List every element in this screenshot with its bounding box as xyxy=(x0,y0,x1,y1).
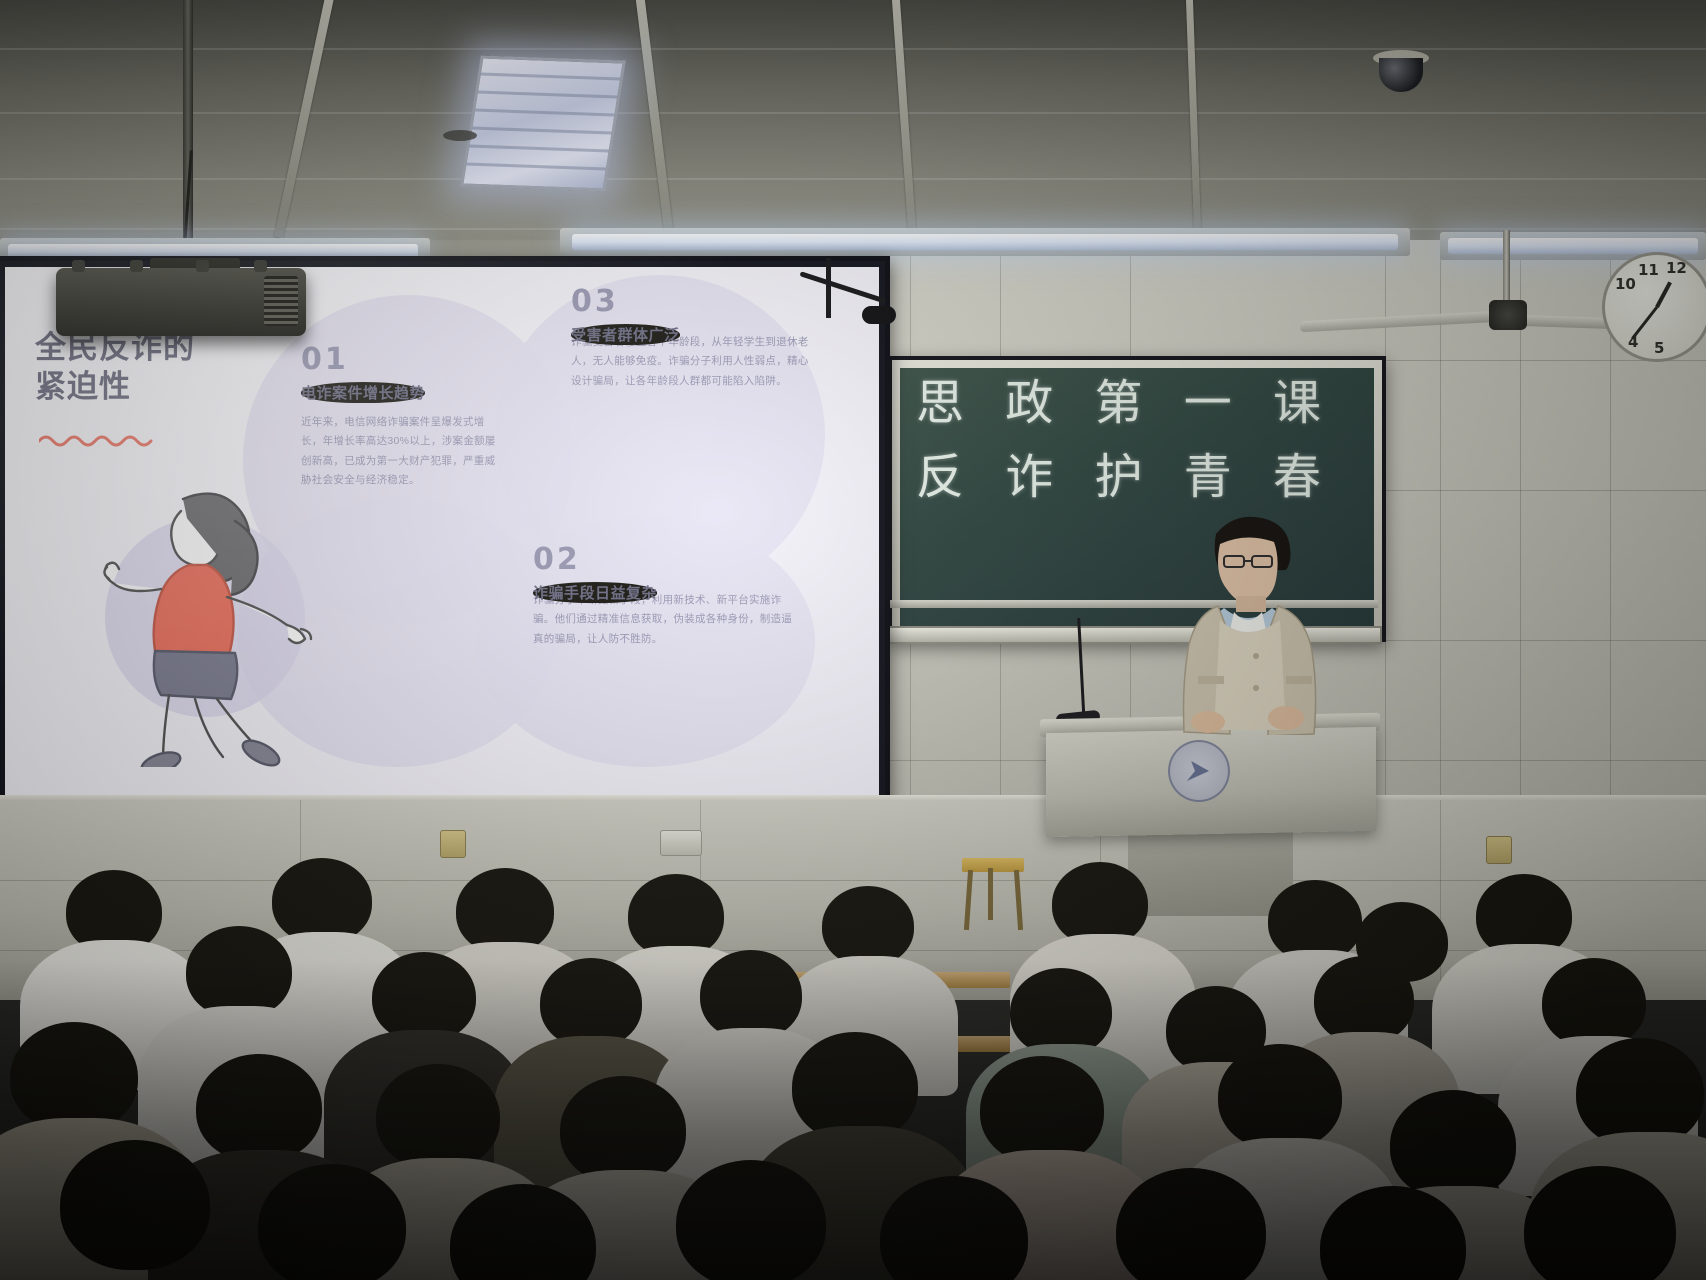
slide-title: 全民反诈的 紧迫性 xyxy=(35,329,285,407)
audience-head xyxy=(1314,956,1414,1044)
audience-head xyxy=(822,886,914,966)
clock-number-6: 5 xyxy=(1654,339,1664,357)
audience-head xyxy=(10,1022,138,1132)
audience-head xyxy=(1218,1044,1342,1150)
presentation-slide: 全民反诈的 紧迫性 xyxy=(5,267,879,795)
presenter xyxy=(1158,500,1358,735)
section-01-number: 01 xyxy=(301,345,501,375)
girl-illustration xyxy=(65,467,355,767)
panel-light xyxy=(460,55,626,191)
clock-number-11: 11 xyxy=(1638,261,1659,279)
section-01-body: 近年来，电信网络诈骗案件呈爆发式增长，年增长率高达30%以上，涉案金额屡创新高，… xyxy=(301,413,501,491)
projection-screen: 全民反诈的 紧迫性 xyxy=(0,256,890,806)
section-03-number: 03 xyxy=(571,287,819,317)
clock-number-10: 10 xyxy=(1615,275,1636,293)
audience-head xyxy=(372,952,476,1042)
audience-head xyxy=(376,1064,500,1170)
audience-head xyxy=(700,950,802,1040)
audience-head xyxy=(186,926,292,1018)
audience-head xyxy=(1010,968,1112,1056)
section-03-heading: 受害者群体广泛 xyxy=(571,324,680,345)
section-02-number: 02 xyxy=(533,545,801,575)
blackboard-line-1: 思 政 第 一 课 xyxy=(916,378,1364,430)
audience-head xyxy=(540,958,642,1048)
section-01-heading: 电诈案件增长趋势 xyxy=(301,382,425,403)
slide-section-01: 01 电诈案件增长趋势 近年来，电信网络诈骗案件呈爆发式增长，年增长率高达30%… xyxy=(301,345,501,491)
ceiling-vent xyxy=(443,130,477,141)
projector xyxy=(56,268,306,336)
ceiling-fan-rod xyxy=(1503,230,1510,304)
audience-head xyxy=(1542,958,1646,1048)
slide-section-03: 03 受害者群体广泛 诈骗受害者覆盖各个年龄段，从年轻学生到退休老人，无人能够免… xyxy=(571,287,819,391)
podium-university-logo xyxy=(1168,740,1230,802)
audience xyxy=(0,840,1706,1280)
audience-head xyxy=(1390,1090,1516,1200)
boom-mic-pole xyxy=(826,258,831,318)
tube-light-right xyxy=(572,234,1398,250)
audience-head xyxy=(560,1076,686,1184)
ceiling xyxy=(0,0,1706,250)
clock-number-12: 12 xyxy=(1666,259,1687,277)
wall-clock: 10 11 12 4 5 xyxy=(1602,252,1706,362)
audience-head xyxy=(196,1054,322,1162)
boom-mic-head xyxy=(862,306,896,324)
audience-head xyxy=(258,1164,406,1280)
slide-section-02: 02 诈骗手段日益复杂 诈骗分子不断更新手段，利用新技术、新平台实施诈骗。他们通… xyxy=(533,545,801,649)
clock-hour-hand xyxy=(1655,281,1672,308)
blackboard-line-2: 反 诈 护 青 春 xyxy=(916,452,1364,504)
dome-security-camera-icon xyxy=(1373,50,1429,92)
slide-title-line-2: 紧迫性 xyxy=(35,368,285,407)
audience-head xyxy=(60,1140,210,1270)
squiggle-decoration xyxy=(39,433,159,449)
ceiling-fan-hub xyxy=(1489,300,1527,330)
section-02-heading: 诈骗手段日益复杂 xyxy=(533,582,657,603)
classroom-lecture-scene: 10 11 12 4 5 思 政 第 一 课 反 诈 护 青 春 全民反诈的 紧… xyxy=(0,0,1706,1280)
audience-head xyxy=(980,1056,1104,1164)
audience-head xyxy=(676,1160,826,1280)
clock-minute-hand xyxy=(1631,306,1658,339)
